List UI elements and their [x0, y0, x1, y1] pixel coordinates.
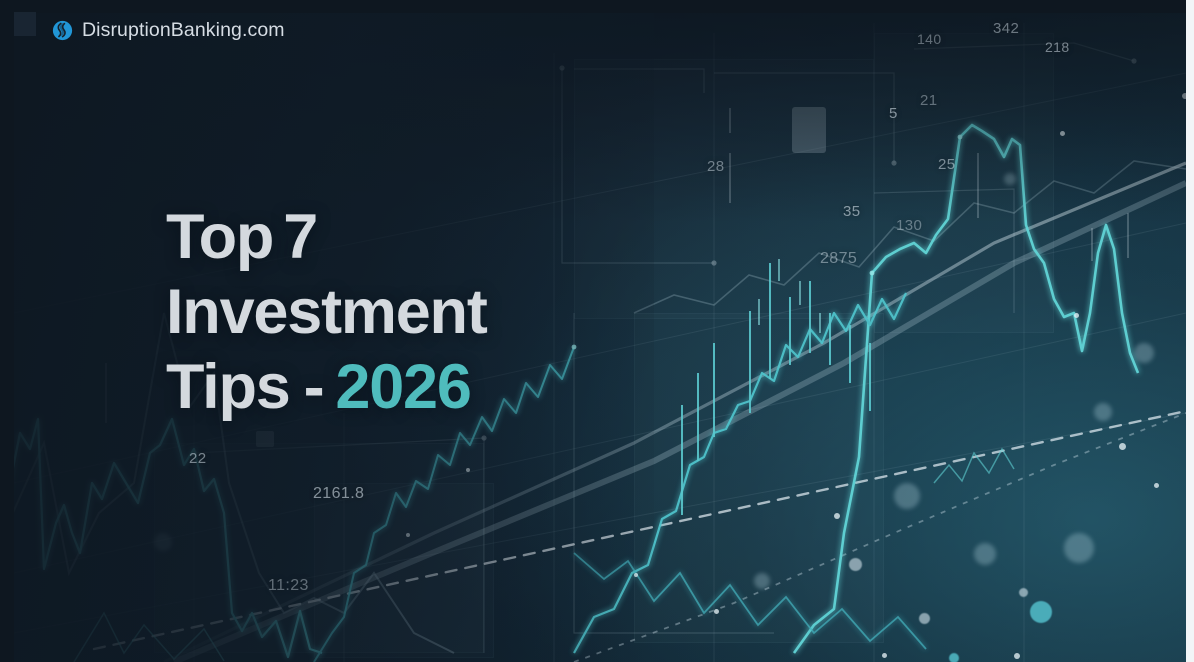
- chart-value-label: 21: [920, 92, 938, 109]
- chart-value-label: 130: [896, 217, 922, 234]
- chart-value-label: 342: [993, 20, 1019, 37]
- frame-left-edge: [0, 0, 14, 662]
- chart-value-label: 11:23: [268, 577, 309, 595]
- headline-line-1: Top7: [166, 206, 487, 269]
- headline-year: 2026: [335, 352, 470, 422]
- headline: Top7 Investment Tips-2026: [166, 206, 487, 419]
- chart-value-label: 2875: [820, 250, 857, 268]
- chart-value-label: 140: [917, 31, 942, 47]
- chart-value-label: 5: [889, 105, 898, 122]
- headline-line-3: Tips-2026: [166, 356, 487, 419]
- promo-banner: 1403422185212825351302875222161.811:23 D…: [0, 0, 1194, 662]
- chart-value-label: 35: [843, 203, 861, 220]
- chart-value-label: 2161.8: [313, 485, 364, 503]
- chart-value-label: 28: [707, 158, 725, 175]
- site-logo-text: DisruptionBanking.com: [82, 19, 285, 42]
- headline-tips-word: Tips: [166, 352, 290, 422]
- headline-line-2: Investment: [166, 281, 487, 344]
- disruption-banking-bolt-icon: [52, 20, 73, 41]
- chart-value-label: 22: [189, 450, 207, 467]
- headline-count: 7: [283, 202, 317, 272]
- headline-dash: -: [304, 352, 324, 422]
- headline-top-word: Top: [166, 202, 273, 272]
- chart-value-label: 25: [938, 156, 956, 173]
- chart-value-label: 218: [1045, 39, 1070, 55]
- frame-top-edge: [14, 0, 1186, 13]
- frame-right-edge: [1186, 0, 1194, 662]
- site-logo[interactable]: DisruptionBanking.com: [52, 19, 285, 42]
